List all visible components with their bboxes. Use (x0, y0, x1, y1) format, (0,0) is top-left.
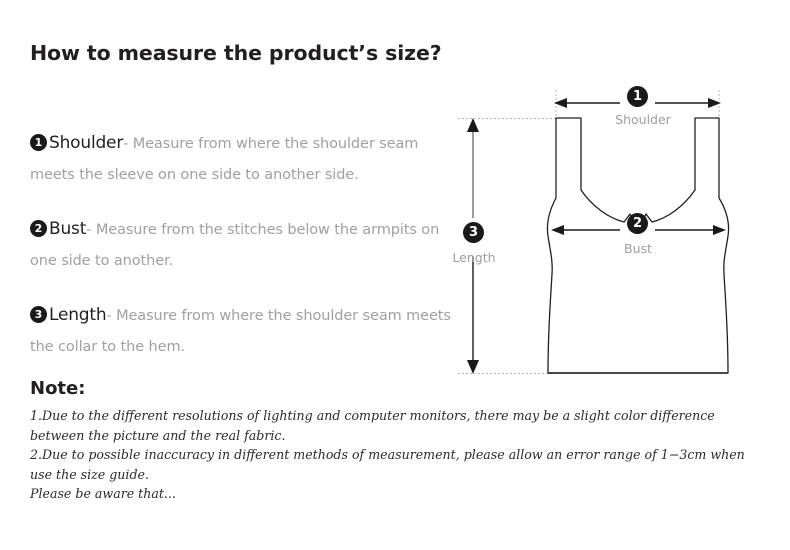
measure-term-bust: Bust (49, 219, 86, 239)
number-badge-2: 2 (30, 220, 47, 237)
measurement-list: 1Shoulder- Measure from where the should… (30, 128, 455, 386)
length-measure-arrow (467, 118, 479, 374)
page-title: How to measure the product’s size? (30, 41, 442, 65)
note-heading: Note: (30, 378, 85, 399)
diagram-label-bust: Bust (598, 241, 678, 256)
list-item: 3Length- Measure from where the shoulder… (30, 300, 455, 362)
diagram-label-shoulder: Shoulder (603, 112, 683, 127)
measure-term-shoulder: Shoulder (49, 133, 123, 153)
measure-desc-bust: - Measure from the stitches below the ar… (30, 222, 439, 269)
note-line-3: Please be aware that... (30, 484, 768, 504)
diagram-label-length: Length (442, 250, 506, 265)
garment-diagram: 1 Shoulder 2 Bust 3 Length (440, 78, 790, 388)
note-line-1: 1.Due to the different resolutions of li… (30, 406, 768, 445)
diagram-badge-shoulder: 1 (627, 86, 648, 107)
list-item: 1Shoulder- Measure from where the should… (30, 128, 455, 190)
size-guide-page: How to measure the product’s size? 1Shou… (0, 0, 790, 550)
note-body: 1.Due to the different resolutions of li… (30, 406, 768, 504)
number-badge-1: 1 (30, 134, 47, 151)
measure-term-length: Length (49, 305, 106, 325)
number-badge-3: 3 (30, 306, 47, 323)
list-item: 2Bust- Measure from the stitches below t… (30, 214, 455, 276)
note-line-2: 2.Due to possible inaccuracy in differen… (30, 445, 768, 484)
diagram-badge-length: 3 (463, 222, 484, 243)
diagram-badge-bust: 2 (627, 213, 648, 234)
